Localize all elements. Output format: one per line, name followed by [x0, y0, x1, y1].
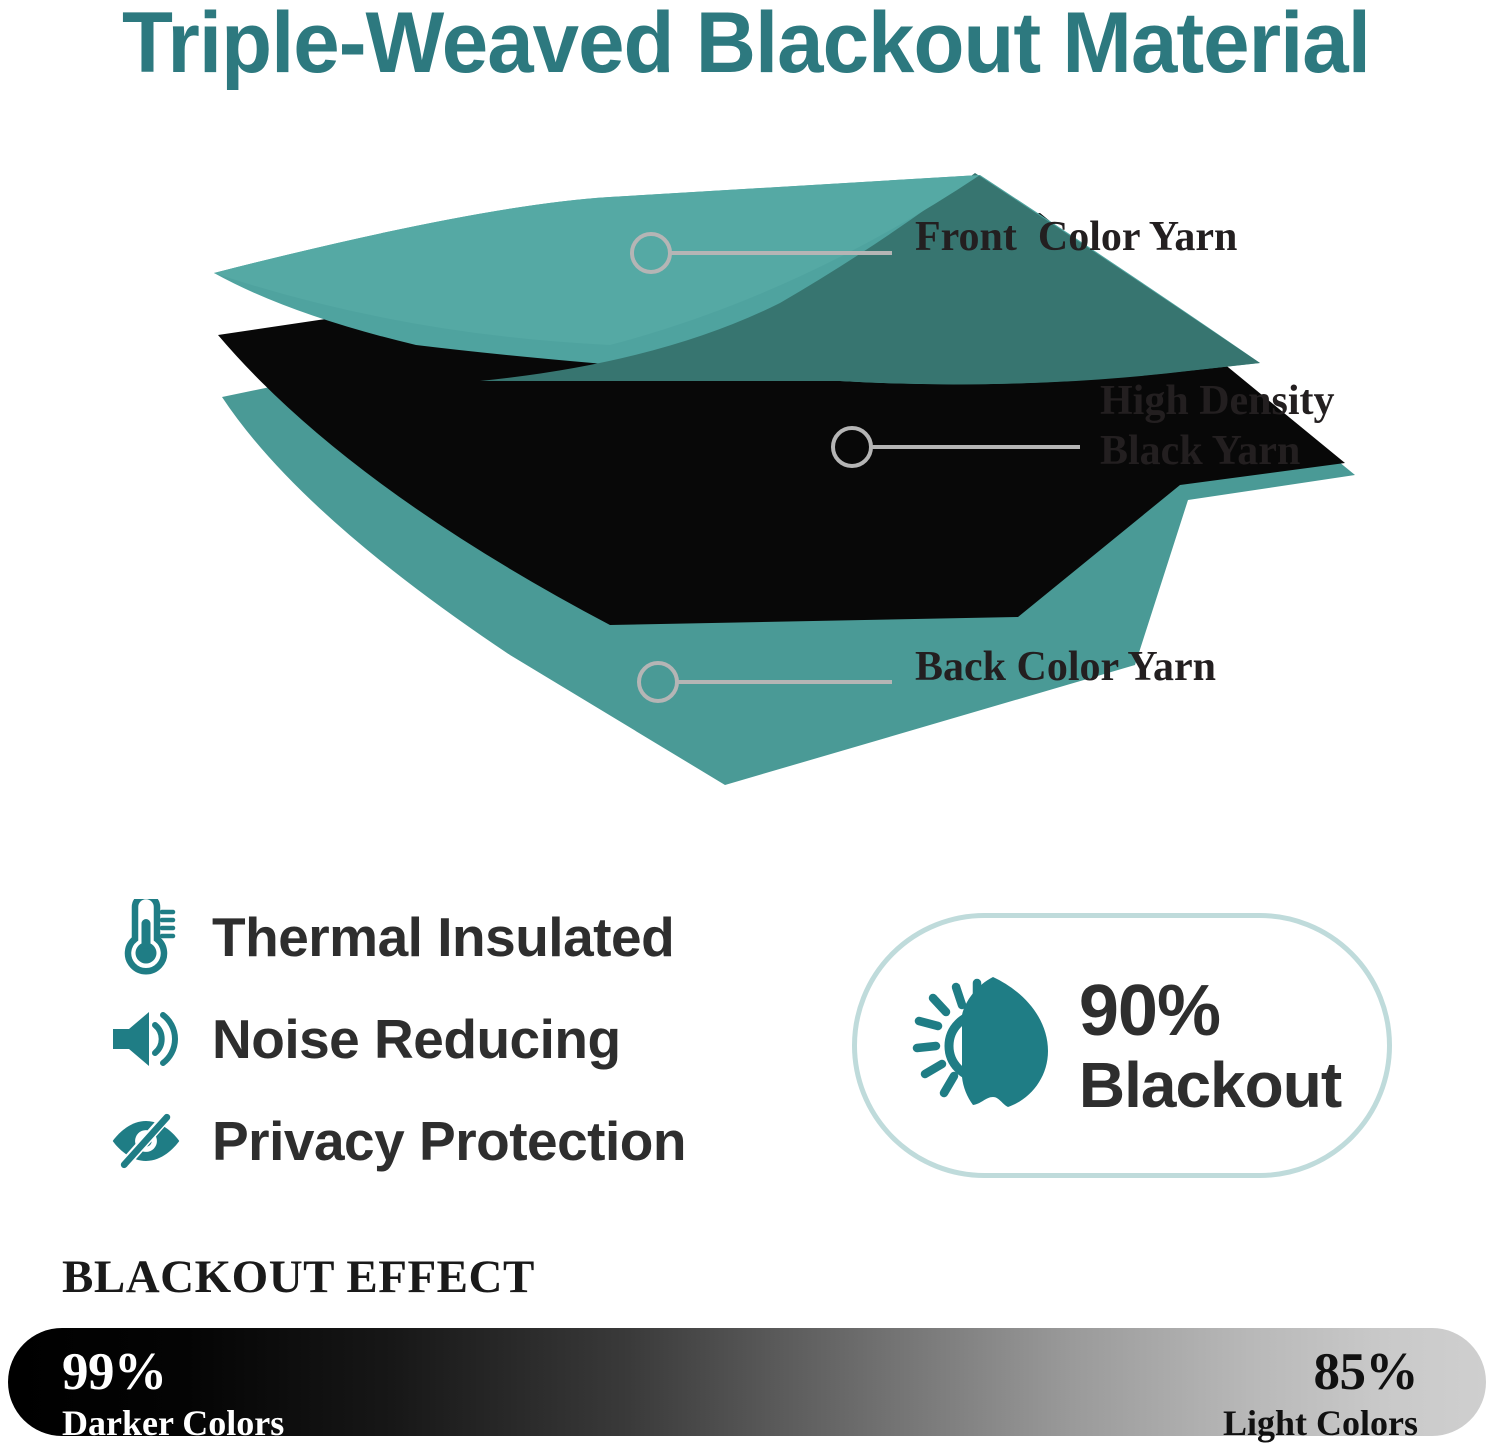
darker-colors-caption: Darker Colors — [62, 1405, 284, 1441]
feature-label-thermal-insulated: Thermal Insulated — [212, 905, 674, 969]
speaker-icon — [108, 1001, 184, 1077]
blackout-effect-darker-colors: 99% Darker Colors — [62, 1346, 284, 1441]
feature-item-privacy-protection: Privacy Protection — [108, 1097, 788, 1185]
blackout-effect-heading: BLACKOUT EFFECT — [62, 1250, 535, 1304]
eye-off-icon — [108, 1103, 184, 1179]
feature-item-thermal-insulated: Thermal Insulated — [108, 893, 788, 981]
blackout-badge-text: 90% Blackout — [1079, 975, 1341, 1117]
feature-item-noise-reducing: Noise Reducing — [108, 995, 788, 1083]
thermometer-icon — [108, 899, 184, 975]
fabric-layer-diagram: Front Color Yarn High Density Black Yarn… — [180, 185, 1492, 805]
page-title: Triple-Weaved Blackout Material — [22, 0, 1469, 93]
feature-list: Thermal Insulated Noise Reducing — [108, 893, 788, 1199]
blackout-word: Blackout — [1079, 1053, 1341, 1117]
feature-label-privacy-protection: Privacy Protection — [212, 1109, 686, 1173]
sun-behind-curtain-icon — [903, 967, 1061, 1125]
blackout-badge: 90% Blackout — [852, 913, 1392, 1178]
blackout-effect-gradient-bar: 99% Darker Colors 85% Light Colors — [8, 1328, 1486, 1436]
light-colors-percent: 85% — [1223, 1346, 1418, 1399]
blackout-effect-light-colors: 85% Light Colors — [1223, 1346, 1418, 1441]
feature-label-noise-reducing: Noise Reducing — [212, 1007, 621, 1071]
darker-colors-percent: 99% — [62, 1346, 284, 1399]
callout-label-front-color-yarn: Front Color Yarn — [915, 213, 1237, 263]
callout-label-back-color-yarn: Back Color Yarn — [915, 643, 1216, 693]
callout-label-high-density-black-yarn: High Density Black Yarn — [1100, 377, 1335, 476]
blackout-percent: 90% — [1079, 975, 1341, 1047]
light-colors-caption: Light Colors — [1223, 1405, 1418, 1441]
